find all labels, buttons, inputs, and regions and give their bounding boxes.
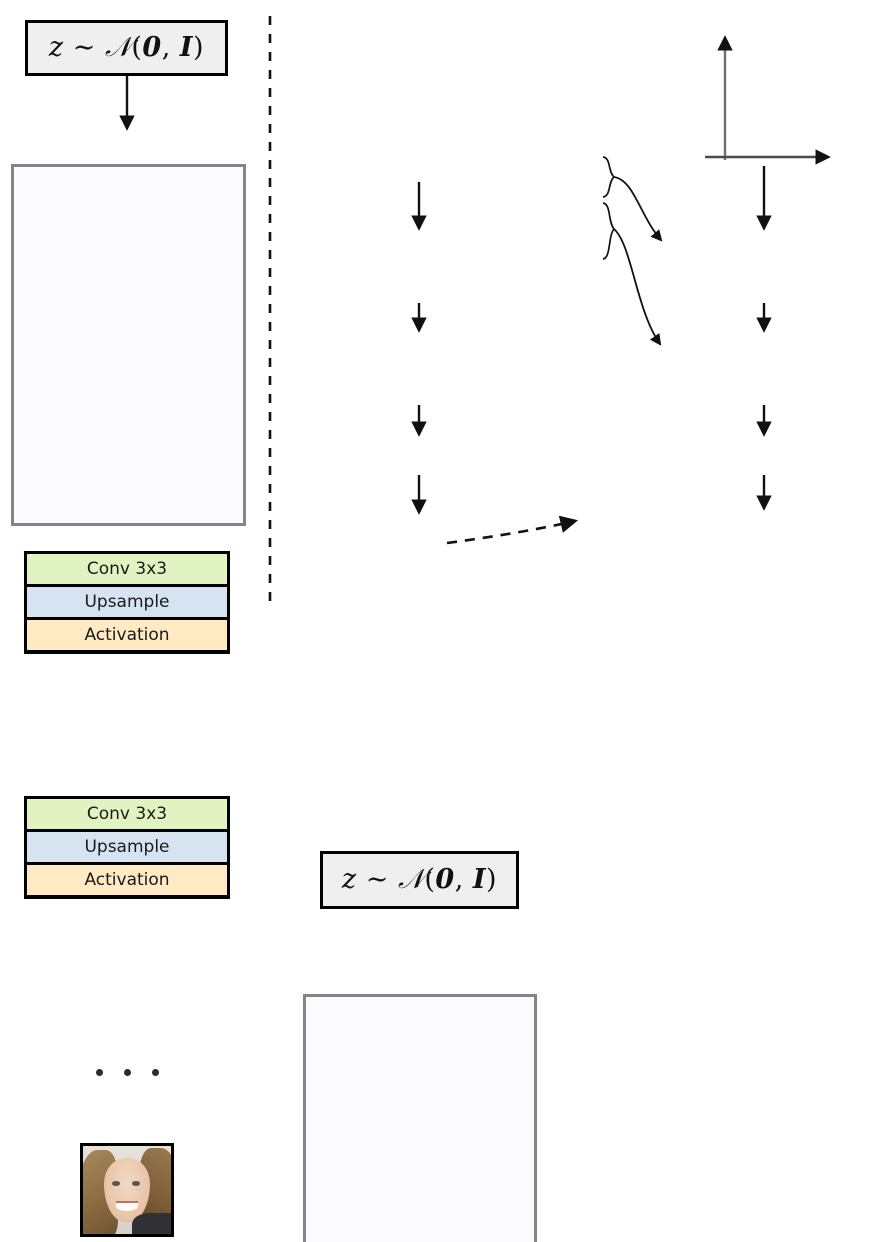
connector-group2-to-linear2 [614,229,660,344]
layer-upsample-2: Upsample [27,829,227,862]
diagram-canvas: z ∼ 𝒩(0, I) Conv 3x3 Upsample Activation… [0,0,896,621]
arrow-theta-to-strip [447,521,575,543]
middle-mlp-panel [303,994,537,1242]
middle-latent-formula: z ∼ 𝒩(0, I) [342,864,497,896]
layer-conv-2: Conv 3x3 [27,799,227,829]
layer-activation-1: Activation [27,617,227,650]
left-block-1: Conv 3x3 Upsample Activation [24,551,230,654]
left-generator-panel [11,164,246,526]
left-latent-box: z ∼ 𝒩(0, I) [25,20,228,76]
layer-activation-2: Activation [27,862,227,895]
left-ellipsis [93,1067,161,1077]
layer-upsample-1: Upsample [27,584,227,617]
brace-group1 [603,157,614,197]
left-block-2: Conv 3x3 Upsample Activation [24,796,230,899]
layer-conv-1: Conv 3x3 [27,554,227,584]
connector-group1-to-linear1 [614,177,661,240]
middle-latent-box: z ∼ 𝒩(0, I) [320,851,519,909]
left-latent-formula: z ∼ 𝒩(0, I) [49,32,204,64]
brace-group2 [603,203,614,259]
left-output-image [80,1143,174,1237]
